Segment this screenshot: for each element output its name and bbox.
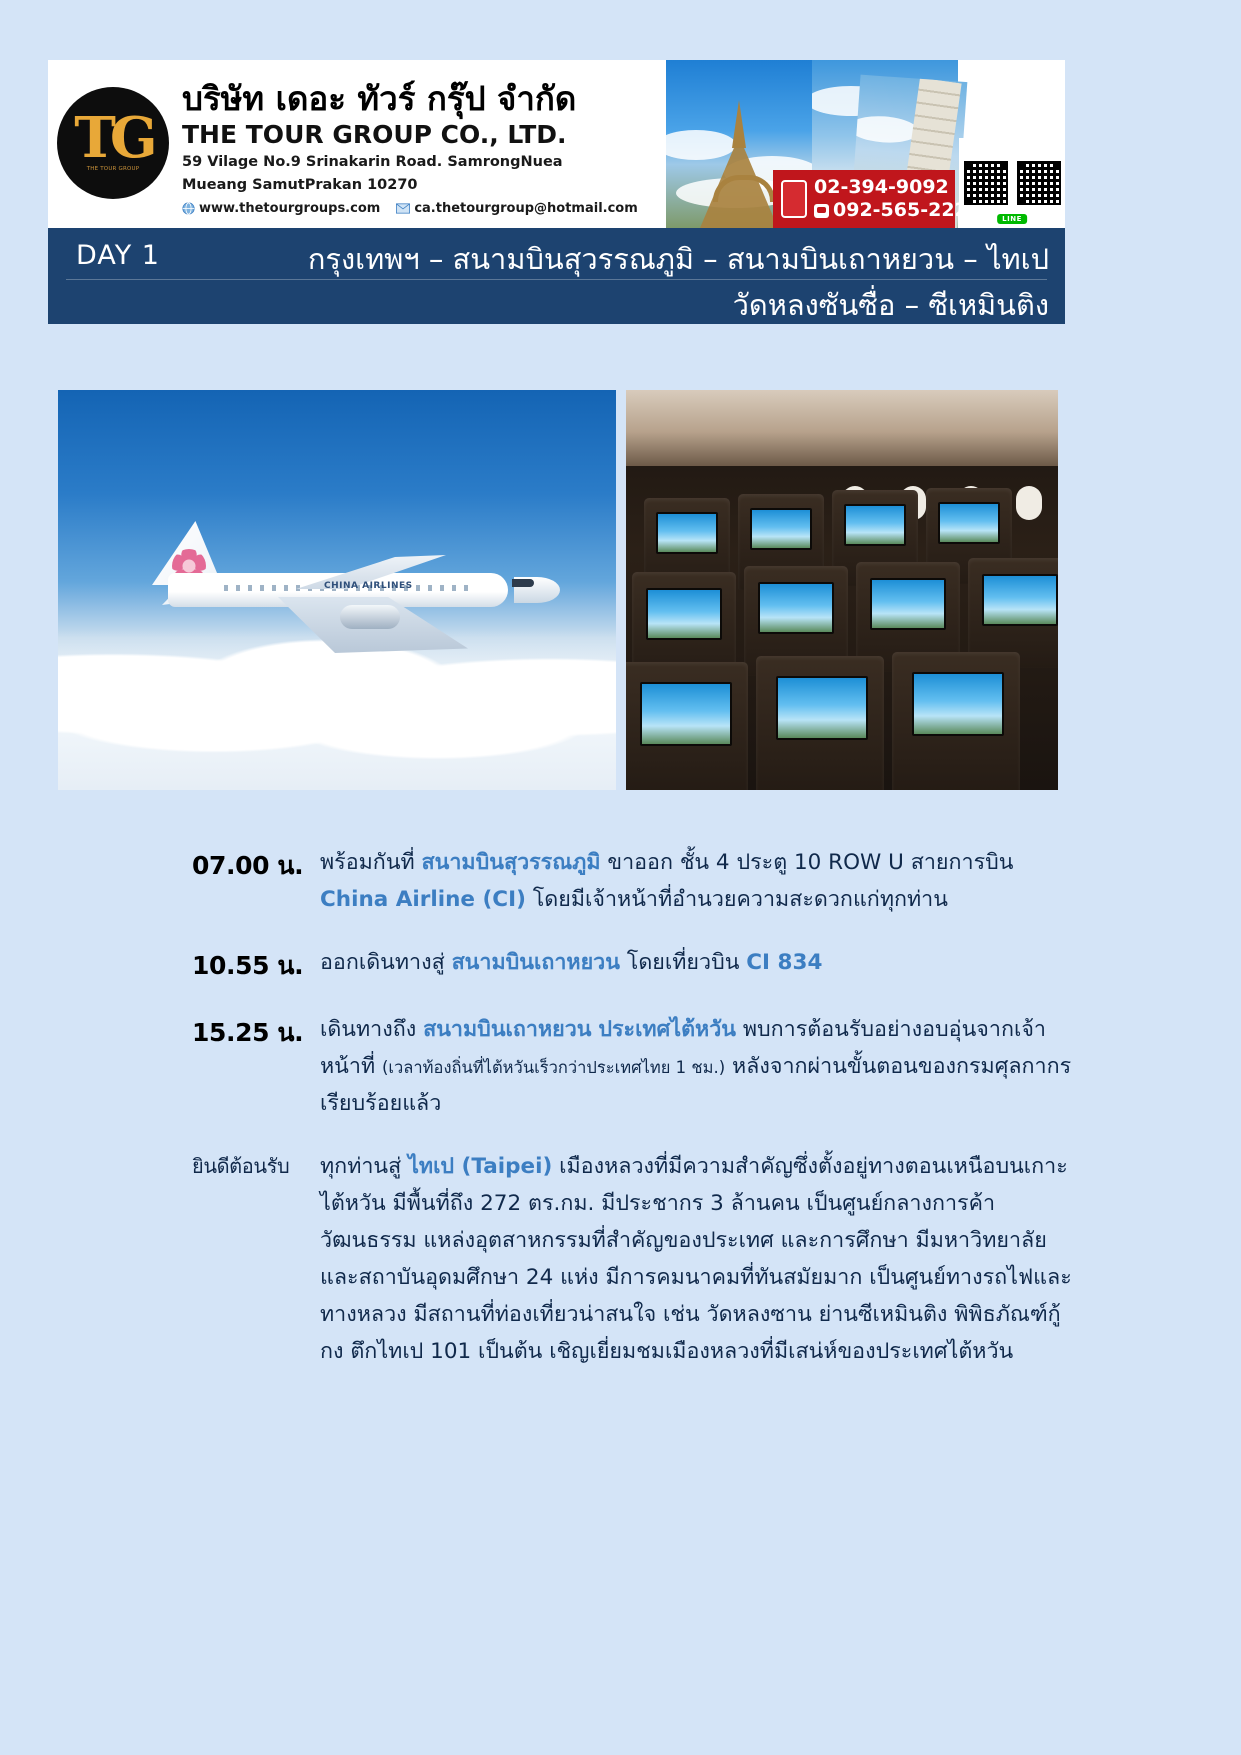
company-address-line-1: 59 Vilage No.9 Srinakarin Road. SamrongN… — [182, 153, 638, 173]
company-email[interactable]: ca.thetourgroup@hotmail.com — [414, 201, 637, 216]
seatback-screen — [912, 672, 1004, 736]
aircraft-engine — [340, 605, 400, 629]
day-header-band: DAY 1 กรุงเทพฯ – สนามบินสุวรรณภูมิ – สนา… — [48, 228, 1065, 324]
company-website[interactable]: www.thetourgroups.com — [199, 201, 380, 216]
text-segment: ทุกท่านสู่ — [320, 1154, 408, 1179]
day-photo-row: CHINA AIRLINES — [58, 390, 1058, 790]
itinerary-page: TG THE TOUR GROUP บริษัท เดอะ ทัวร์ กรุ๊… — [0, 0, 1241, 1755]
mail-icon — [396, 203, 410, 214]
logo-monogram: TG — [74, 116, 152, 162]
letterhead-text-block: TG THE TOUR GROUP บริษัท เดอะ ทัวร์ กรุ๊… — [48, 60, 666, 228]
aircraft-livery-text: CHINA AIRLINES — [324, 581, 413, 591]
day-route-line-1: กรุงเทพฯ – สนามบินสุวรรณภูมิ – สนามบินเถ… — [308, 236, 1049, 282]
itinerary-time: 10.55 น. — [192, 945, 320, 986]
phone-contact-bar: 02-394-9092 092-565-2222 — [773, 170, 955, 228]
text-segment-highlight: สนามบินเถาหยวน — [452, 950, 620, 975]
itinerary-row-welcome: ยินดีต้อนรับ ทุกท่านสู่ ไทเป (Taipei) เม… — [192, 1149, 1072, 1371]
itinerary-list: 07.00 น. พร้อมกันที่ สนามบินสุวรรณภูมิ ข… — [192, 845, 1072, 1397]
seatback-screen — [982, 574, 1058, 626]
itinerary-time: 15.25 น. — [192, 1012, 320, 1123]
text-segment: โดยเที่ยวบิน — [620, 950, 746, 975]
landmark-photo-strip: 02-394-9092 092-565-2222 LINE — [666, 60, 1065, 228]
company-logo: TG THE TOUR GROUP — [48, 68, 178, 218]
seatback-screen — [938, 502, 1000, 544]
text-segment: เมืองหลวงที่มีความสำคัญซึ่งตั้งอยู่ทางตอ… — [320, 1154, 1072, 1364]
itinerary-description: ทุกท่านสู่ ไทเป (Taipei) เมืองหลวงที่มีค… — [320, 1149, 1072, 1371]
itinerary-description: เดินทางถึง สนามบินเถาหยวน ประเทศไต้หวัน … — [320, 1012, 1072, 1123]
text-segment-highlight: สนามบินสุวรรณภูมิ — [422, 850, 601, 875]
text-segment-highlight: สนามบินเถาหยวน — [423, 1017, 591, 1042]
text-segment: ขาออก ชั้น 4 ประตู 10 ROW U สายการบิน — [601, 850, 1014, 875]
aircraft-illustration: CHINA AIRLINES — [128, 525, 548, 645]
phone-number-primary[interactable]: 02-394-9092 — [814, 176, 981, 199]
company-name-thai: บริษัท เดอะ ทัวร์ กรุ๊ป จำกัด — [182, 80, 638, 118]
day-label: DAY 1 — [76, 240, 160, 271]
company-contact-row: www.thetourgroups.com ca.thetourgroup@ho… — [182, 201, 638, 216]
mobile-phone-icon — [781, 180, 807, 218]
eiffel-tower-shape — [700, 100, 778, 228]
company-address-line-2: Mueang SamutPrakan 10270 — [182, 176, 638, 196]
text-segment-highlight: ประเทศไต้หวัน — [598, 1017, 736, 1042]
qr-code-left[interactable] — [962, 159, 1010, 207]
itinerary-time: 07.00 น. — [192, 845, 320, 919]
text-segment-highlight: China Airline (CI) — [320, 887, 526, 912]
line-qr-label: LINE — [997, 214, 1027, 224]
aircraft-cockpit-window — [512, 579, 534, 587]
qr-code-line[interactable] — [1015, 159, 1063, 207]
itinerary-row: 07.00 น. พร้อมกันที่ สนามบินสุวรรณภูมิ ข… — [192, 845, 1072, 919]
cloud-layer — [58, 630, 616, 790]
company-name-english: THE TOUR GROUP CO., LTD. — [182, 120, 638, 150]
itinerary-description: ออกเดินทางสู่ สนามบินเถาหยวน โดยเที่ยวบิ… — [320, 945, 1072, 986]
day-route-line-2: วัดหลงซันซื่อ – ซีเหมินติง — [733, 282, 1049, 324]
photo-china-airlines-aircraft: CHINA AIRLINES — [58, 390, 616, 790]
seatback-screen — [656, 512, 718, 554]
itinerary-row: 10.55 น. ออกเดินทางสู่ สนามบินเถาหยวน โด… — [192, 945, 1072, 986]
text-segment-highlight: CI 834 — [746, 950, 822, 975]
globe-icon — [182, 202, 195, 215]
company-letterhead: TG THE TOUR GROUP บริษัท เดอะ ทัวร์ กรุ๊… — [48, 60, 1065, 228]
text-segment-highlight: ไทเป (Taipei) — [408, 1154, 552, 1179]
seatback-screen — [646, 588, 722, 640]
logo-circle: TG THE TOUR GROUP — [57, 87, 169, 199]
photo-aircraft-cabin — [626, 390, 1058, 790]
seatback-screen — [640, 682, 732, 746]
text-segment: เดินทางถึง — [320, 1017, 423, 1042]
itinerary-row: 15.25 น. เดินทางถึง สนามบินเถาหยวน ประเท… — [192, 1012, 1072, 1123]
seatback-screen — [750, 508, 812, 550]
text-segment-note: (เวลาท้องถิ่นที่ไต้หวันเร็วกว่าประเทศไทย… — [382, 1058, 725, 1077]
text-segment: พร้อมกันที่ — [320, 850, 422, 875]
qr-code-block: LINE — [959, 138, 1065, 228]
line-app-icon — [814, 204, 829, 218]
seatback-screen — [870, 578, 946, 630]
text-segment: ออกเดินทางสู่ — [320, 950, 452, 975]
seatback-screen — [758, 582, 834, 634]
seatback-screen — [844, 504, 906, 546]
itinerary-welcome-label: ยินดีต้อนรับ — [192, 1149, 320, 1371]
cabin-seat-grid — [626, 390, 1058, 790]
logo-caption: THE TOUR GROUP — [87, 166, 140, 173]
text-segment: โดยมีเจ้าหน้าที่อำนวยความสะดวกแก่ทุกท่าน — [526, 887, 948, 912]
seatback-screen — [776, 676, 868, 740]
itinerary-description: พร้อมกันที่ สนามบินสุวรรณภูมิ ขาออก ชั้น… — [320, 845, 1072, 919]
